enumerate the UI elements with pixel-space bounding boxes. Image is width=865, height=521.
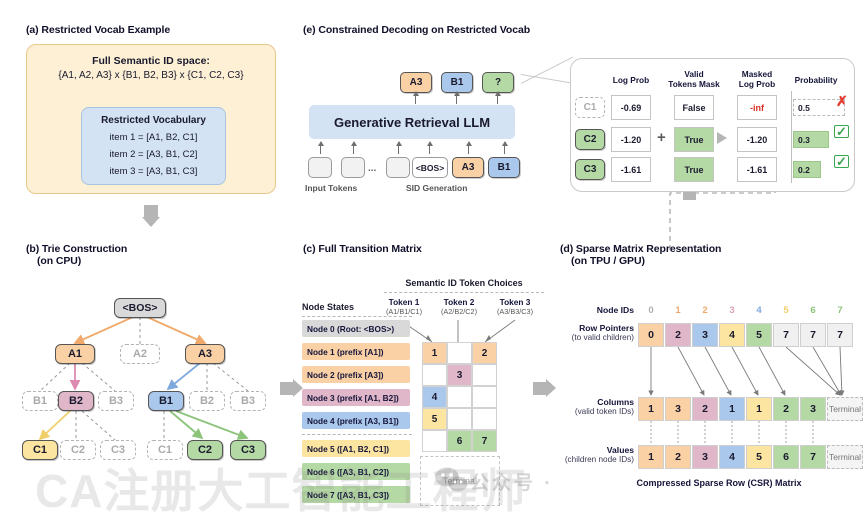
trie-node-b3-right[interactable]: B3	[230, 391, 266, 411]
input-arrow-6	[504, 145, 505, 154]
node-id: 6	[800, 305, 826, 316]
vocab-item: item 3 = [A3, B1, C3]	[82, 166, 225, 177]
transition-matrix-canvas: Semantic ID Token Choices Token 1 (A1/B1…	[300, 258, 555, 513]
matrix-cell[interactable]	[472, 386, 497, 408]
matrix-cell[interactable]: 4	[422, 386, 447, 408]
trie-node-c3-right[interactable]: C3	[230, 440, 266, 460]
trie-node-b1-right[interactable]: B1	[148, 391, 184, 411]
columns-cell[interactable]: 1	[746, 397, 772, 421]
trie-canvas: <BOS> A1 A2 A3 B1 B2 B3 B1 B2 B3 C1 C2 C…	[20, 276, 290, 511]
probability-axis	[791, 91, 792, 183]
values-cell[interactable]: 5	[746, 445, 772, 469]
arrow-c-to-d-shaft	[533, 382, 547, 395]
trie-node-b3-left[interactable]: B3	[98, 391, 134, 411]
node-states-divider-top	[302, 316, 412, 317]
values-cell[interactable]: 3	[692, 445, 718, 469]
node-state-row[interactable]: Node 6 ([A3, B1, C2])	[302, 463, 410, 480]
trie-node-b1-left[interactable]: B1	[22, 391, 58, 411]
token-column-3-sub: (A3/B3/C3)	[486, 307, 544, 317]
input-token-box-1[interactable]	[308, 157, 332, 178]
trie-node-c2-right[interactable]: C2	[187, 440, 223, 460]
log-prob-cell: -1.20	[611, 127, 651, 152]
values-cell[interactable]: 4	[719, 445, 745, 469]
trie-node-c1-right[interactable]: C1	[147, 440, 183, 460]
matrix-cell[interactable]: 5	[422, 408, 447, 430]
table-header-valid-mask: Valid Tokens Mask	[663, 69, 725, 89]
node-state-row[interactable]: Node 3 (prefix [A1, B2])	[302, 389, 410, 406]
columns-cell[interactable]: 3	[665, 397, 691, 421]
panel-c-title: (c) Full Transition Matrix	[303, 243, 553, 255]
sid-input-b1[interactable]: B1	[488, 157, 520, 178]
row-pointer-cell[interactable]: 7	[827, 323, 853, 347]
table-header-masked-l2: Log Prob	[729, 79, 785, 89]
output-token-a3[interactable]: A3	[400, 72, 432, 93]
full-space-label: Full Semantic ID space:	[27, 55, 275, 67]
columns-cell[interactable]: 2	[773, 397, 799, 421]
node-state-row[interactable]: Node 4 (prefix [A3, B1])	[302, 412, 410, 429]
output-arrow-3	[497, 95, 498, 104]
node-state-row[interactable]: Node 0 (Root: <BOS>)	[302, 320, 410, 337]
vocab-item: item 2 = [A3, B1, C2]	[82, 149, 225, 160]
matrix-header-divider	[384, 292, 544, 293]
node-id: 7	[827, 305, 853, 316]
matrix-cell[interactable]: 2	[472, 342, 497, 364]
panel-a-full-space-box: Full Semantic ID space: {A1, A2, A3} x {…	[26, 44, 276, 194]
token-column-3-name: Token 3	[486, 297, 544, 307]
output-token-b1[interactable]: B1	[441, 72, 473, 93]
node-state-row[interactable]: Node 1 (prefix [A1])	[302, 343, 410, 360]
input-arrow-3	[398, 145, 399, 154]
columns-sublabel: (valid token IDs)	[556, 407, 634, 416]
matrix-header-label: Semantic ID Token Choices	[384, 278, 544, 288]
trie-node-a1[interactable]: A1	[55, 344, 95, 364]
row-pointer-cell[interactable]: 7	[800, 323, 826, 347]
sid-input-a3[interactable]: A3	[452, 157, 484, 178]
output-token-unknown[interactable]: ?	[482, 72, 514, 93]
verdict-cross-icon: ✗	[836, 93, 848, 110]
csr-pointer-arrows	[556, 347, 864, 402]
node-states-label: Node States	[302, 302, 354, 312]
values-label: Values (children node IDs)	[550, 445, 634, 464]
probability-bar: 0.2	[793, 161, 821, 178]
node-id: 5	[773, 305, 799, 316]
panel-a-title: (a) Restricted Vocab Example	[26, 24, 284, 36]
trie-node-b2-left[interactable]: B2	[58, 391, 94, 411]
vocab-item: item 1 = [A1, B2, C1]	[82, 132, 225, 143]
plus-sign-icon: +	[657, 129, 666, 146]
trie-node-b2-right[interactable]: B2	[189, 391, 225, 411]
row-pointers-label: Row Pointers (to valid children)	[556, 323, 634, 342]
valid-mask-cell: True	[674, 127, 714, 152]
input-arrow-5	[468, 145, 469, 154]
row-pointer-cell[interactable]: 7	[773, 323, 799, 347]
mask-apply-arrow-icon	[717, 132, 727, 144]
arrow-c-to-d-head	[546, 379, 556, 397]
token-column-1-header: Token 1 (A1/B1/C1)	[376, 297, 432, 317]
input-token-box-3[interactable]	[386, 157, 410, 178]
candidate-token-c1[interactable]: C1	[575, 97, 605, 118]
columns-cell[interactable]: 3	[800, 397, 826, 421]
token-column-2-name: Token 2	[431, 297, 487, 307]
trie-node-c1-left[interactable]: C1	[22, 440, 58, 460]
node-id: 3	[719, 305, 745, 316]
panel-e-title: (e) Constrained Decoding on Restricted V…	[303, 24, 530, 36]
columns-label: Columns (valid token IDs)	[556, 397, 634, 416]
arrow-b-to-c-shaft	[280, 382, 294, 395]
node-state-row[interactable]: Node 2 (prefix [A3])	[302, 366, 410, 383]
panel-d-subtitle: (on TPU / GPU)	[560, 255, 850, 267]
matrix-cell[interactable]	[447, 342, 472, 364]
trie-node-c2-left[interactable]: C2	[60, 440, 96, 460]
valid-mask-cell: False	[674, 95, 714, 120]
row-pointer-cell[interactable]: 5	[746, 323, 772, 347]
table-header-masked-log-prob: Masked Log Prob	[729, 69, 785, 89]
output-arrow-2	[456, 95, 457, 104]
panel-a-header: Full Semantic ID space: {A1, A2, A3} x {…	[27, 55, 275, 81]
columns-cell[interactable]: 1	[638, 397, 664, 421]
input-ellipsis: ...	[368, 163, 376, 174]
trie-node-a3[interactable]: A3	[185, 344, 225, 364]
token-column-3-header: Token 3 (A3/B3/C3)	[486, 297, 544, 317]
columns-cell[interactable]: 1	[719, 397, 745, 421]
input-token-box-2[interactable]	[341, 157, 365, 178]
node-ids-label: Node IDs	[556, 305, 634, 315]
decoding-table-callout: Log Prob Valid Tokens Mask Masked Log Pr…	[570, 58, 855, 192]
table-header-probability: Probability	[785, 75, 847, 85]
matrix-cell[interactable]: 1	[422, 342, 447, 364]
output-arrow-1	[415, 95, 416, 104]
row-pointer-cell[interactable]: 4	[719, 323, 745, 347]
trie-node-c3-left[interactable]: C3	[100, 440, 136, 460]
matrix-cell[interactable]	[422, 364, 447, 386]
csr-canvas: Node IDs 0 1 2 3 4 5 6 7 Row Pointers (t…	[556, 285, 864, 513]
panel-b-title-main: (b) Trie Construction	[26, 243, 127, 255]
row-pointers-label-text: Row Pointers	[579, 323, 634, 333]
candidate-token-c2[interactable]: C2	[575, 129, 605, 150]
row-pointers-sublabel: (to valid children)	[556, 333, 634, 342]
node-state-row[interactable]: Node 5 ([A1, B2, C1])	[302, 440, 410, 457]
sid-generation-caption: SID Generation	[406, 183, 467, 193]
node-id: 1	[665, 305, 691, 316]
trie-node-a2[interactable]: A2	[120, 344, 160, 364]
input-arrow-2	[353, 145, 354, 154]
matrix-cell[interactable]	[472, 364, 497, 386]
csr-caption: Compressed Sparse Row (CSR) Matrix	[604, 478, 834, 488]
log-prob-cell: -0.69	[611, 95, 651, 120]
token-column-1-name: Token 1	[376, 297, 432, 307]
masked-log-prob-cell: -inf	[737, 95, 777, 120]
masked-log-prob-cell: -1.61	[737, 157, 777, 182]
node-state-row[interactable]: Node 7 ([A3, B1, C3])	[302, 486, 410, 503]
panel-b-subtitle: (on CPU)	[26, 255, 286, 267]
values-cell[interactable]: 2	[665, 445, 691, 469]
panel-b-title: (b) Trie Construction (on CPU)	[26, 243, 286, 267]
row-pointer-cell[interactable]: 2	[665, 323, 691, 347]
verdict-check-icon: ✓	[834, 125, 849, 138]
table-header-masked-l1: Masked	[729, 69, 785, 79]
columns-terminal: Terminal	[827, 397, 863, 421]
node-states-divider-bottom	[302, 434, 412, 435]
input-arrow-4	[429, 145, 430, 154]
input-tokens-caption: Input Tokens	[305, 183, 357, 193]
table-header-valid-mask-l1: Valid	[663, 69, 725, 79]
values-terminal: Terminal	[827, 445, 863, 469]
matrix-cell[interactable]: 6	[447, 430, 472, 452]
csr-columns-values-links	[556, 421, 864, 447]
token-column-2-sub: (A2/B2/C2)	[431, 307, 487, 317]
matrix-cell[interactable]	[422, 430, 447, 452]
columns-label-text: Columns	[597, 397, 634, 407]
row-pointer-cell[interactable]: 0	[638, 323, 664, 347]
log-prob-cell: -1.61	[611, 157, 651, 182]
input-arrow-1	[320, 145, 321, 154]
matrix-cell[interactable]	[447, 386, 472, 408]
table-header-log-prob: Log Prob	[605, 75, 657, 85]
arrow-a-to-b-head	[142, 217, 160, 227]
sid-input-bos[interactable]: <BOS>	[412, 157, 448, 178]
node-id: 0	[638, 305, 664, 316]
matrix-cell[interactable]: 3	[447, 364, 472, 386]
verdict-check-icon: ✓	[834, 155, 849, 168]
token-column-2-header: Token 2 (A2/B2/C2)	[431, 297, 487, 317]
restricted-vocabulary-box: Restricted Vocabulary item 1 = [A1, B2, …	[81, 107, 226, 185]
restricted-vocabulary-title: Restricted Vocabulary	[82, 115, 225, 126]
probability-bar: 0.3	[793, 131, 829, 148]
node-id: 2	[692, 305, 718, 316]
matrix-cell[interactable]	[472, 408, 497, 430]
values-label-text: Values	[607, 445, 634, 455]
matrix-cell[interactable]: 7	[472, 430, 497, 452]
values-cell[interactable]: 7	[800, 445, 826, 469]
full-space-value: {A1, A2, A3} x {B1, B2, B3} x {C1, C2, C…	[27, 70, 275, 81]
values-sublabel: (children node IDs)	[550, 455, 634, 464]
wechat-logo-icon	[434, 466, 468, 492]
masked-log-prob-cell: -1.20	[737, 127, 777, 152]
row-pointer-cell[interactable]: 3	[692, 323, 718, 347]
valid-mask-cell: True	[674, 157, 714, 182]
columns-cell[interactable]: 2	[692, 397, 718, 421]
matrix-cell[interactable]	[447, 408, 472, 430]
trie-node-root[interactable]: <BOS>	[114, 298, 166, 318]
values-cell[interactable]: 6	[773, 445, 799, 469]
node-id: 4	[746, 305, 772, 316]
generative-retrieval-llm-box: Generative Retrieval LLM	[309, 105, 515, 139]
candidate-token-c3[interactable]: C3	[575, 159, 605, 180]
values-cell[interactable]: 1	[638, 445, 664, 469]
table-header-valid-mask-l2: Tokens Mask	[663, 79, 725, 89]
